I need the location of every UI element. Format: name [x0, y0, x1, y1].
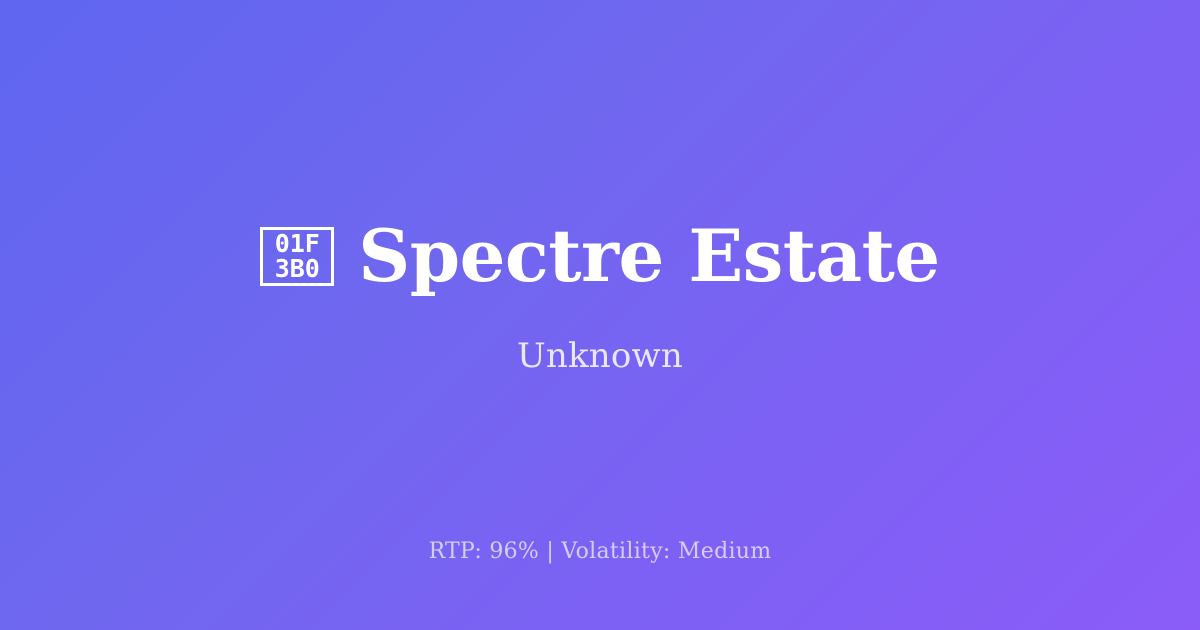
tofu-codepoint-bottom: 3B0: [275, 256, 320, 281]
card-footer-meta: RTP: 96% | Volatility: Medium: [0, 539, 1200, 564]
tofu-codepoint-top: 01F: [275, 231, 320, 256]
slot-machine-icon: 01F 3B0: [260, 227, 334, 286]
page-title: Spectre Estate: [358, 220, 939, 292]
card-center-block: 01F 3B0 Spectre Estate Unknown: [0, 0, 1200, 630]
og-share-card: 01F 3B0 Spectre Estate Unknown RTP: 96% …: [0, 0, 1200, 630]
card-subtitle: Unknown: [517, 336, 683, 376]
title-row: 01F 3B0 Spectre Estate: [260, 220, 939, 292]
